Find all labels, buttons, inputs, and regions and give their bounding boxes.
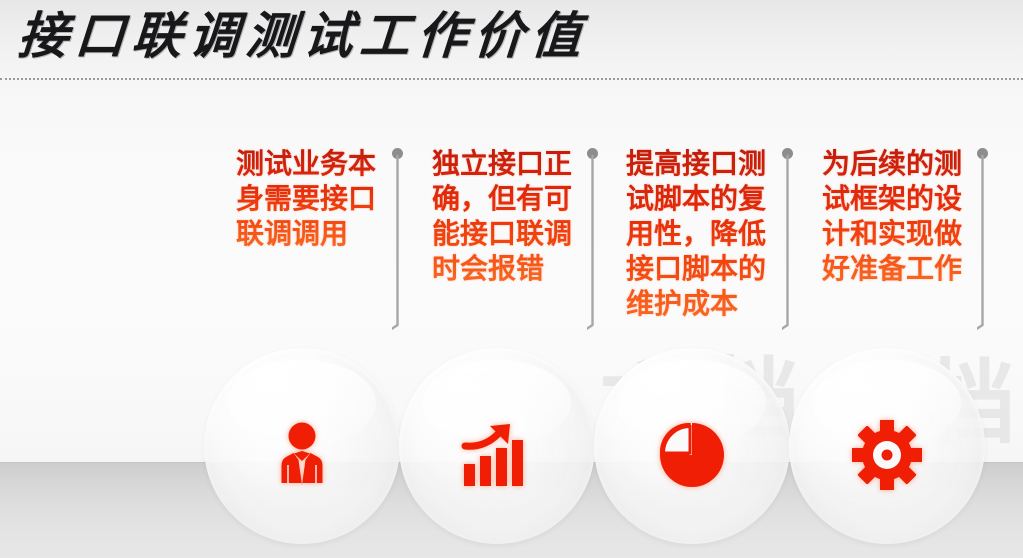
callout-line: 能接口联调 [432,216,592,251]
callout-column-2: 独立接口正 确，但有可 能接口联调 时会报错 [432,146,592,286]
callout-line: 计和实现做 [822,216,982,251]
callout-line: 接口脚本的 [626,251,786,286]
callout-line: 身需要接口 [236,181,396,216]
callout-line: 为后续的测 [822,146,982,181]
callout-line: 用性，降低 [626,216,786,251]
callout-text-2: 独立接口正 确，但有可 能接口联调 时会报错 [432,146,592,286]
callout-line: 确，但有可 [432,181,592,216]
header-divider [0,78,1023,80]
callout-line: 独立接口正 [432,146,592,181]
callout-line: 测试业务本 [236,146,396,181]
callout-column-4: 为后续的测 试框架的设 计和实现做 好准备工作 [822,146,982,286]
callout-line: 试框架的设 [822,181,982,216]
icon-circle-2[interactable] [399,348,595,544]
icon-circle-4[interactable] [789,348,985,544]
icon-circle-1[interactable] [204,348,400,544]
slide-root: 文 档 文 档 接口联调测试工作价值 测试业务本 身需要接口 联调调用 独立接口… [0,0,1023,558]
callout-column-1: 测试业务本 身需要接口 联调调用 [236,146,396,251]
callout-text-1: 测试业务本 身需要接口 联调调用 [236,146,396,251]
callout-column-3: 提高接口测 试脚本的复 用性，降低 接口脚本的 维护成本 [626,146,786,321]
callout-line: 联调调用 [236,216,396,251]
callout-text-3: 提高接口测 试脚本的复 用性，降低 接口脚本的 维护成本 [626,146,786,321]
callout-line: 时会报错 [432,251,592,286]
callout-line: 维护成本 [626,286,786,321]
connector-path-4 [977,153,1023,363]
icon-circle-3[interactable] [594,348,790,544]
callout-line: 提高接口测 [626,146,786,181]
page-title: 接口联调测试工作价值 [16,4,590,68]
callout-line: 好准备工作 [822,251,982,286]
callout-text-4: 为后续的测 试框架的设 计和实现做 好准备工作 [822,146,982,286]
callout-line: 试脚本的复 [626,181,786,216]
